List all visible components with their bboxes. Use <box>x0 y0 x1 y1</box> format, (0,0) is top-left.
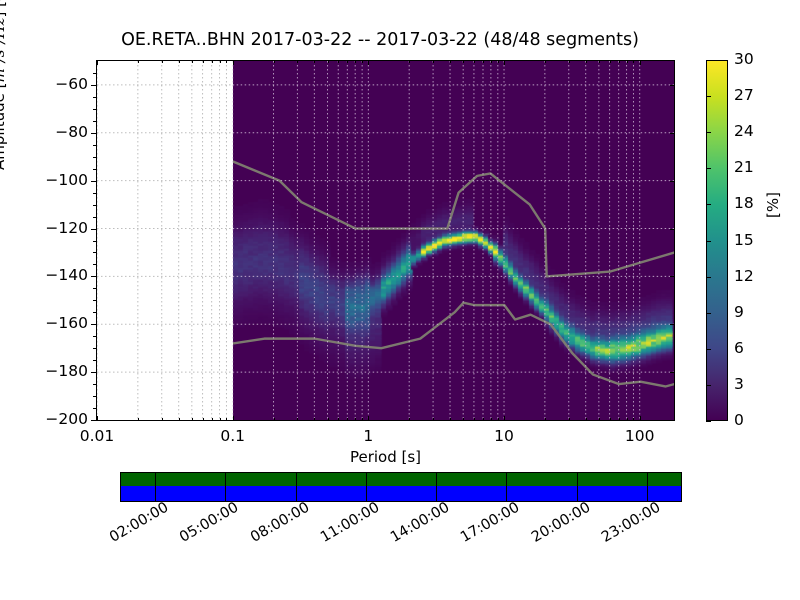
x-minor-tick <box>433 418 434 421</box>
x-minor-tick <box>619 418 620 421</box>
x-minor-tick-top <box>338 60 339 63</box>
x-minor-tick-top <box>633 60 634 63</box>
x-minor-tick <box>610 418 611 421</box>
y-minor-tick <box>93 396 96 397</box>
x-minor-tick <box>463 418 464 421</box>
y-axis-label-prefix: Amplitude [ <box>0 83 8 171</box>
y-minor-tick <box>93 193 96 194</box>
y-minor-tick <box>93 336 96 337</box>
timeline-tick <box>436 472 437 502</box>
x-minor-tick-top <box>362 60 363 63</box>
x-tick-mark-top <box>233 60 234 65</box>
x-minor-tick <box>274 418 275 421</box>
x-minor-tick-top <box>162 60 163 63</box>
x-minor-tick-top <box>433 60 434 63</box>
y-minor-tick <box>93 300 96 301</box>
y-tick-label: −200 <box>45 410 88 428</box>
x-minor-tick-top <box>212 60 213 63</box>
colorbar-tick <box>706 421 711 422</box>
x-tick-mark-top <box>640 60 641 65</box>
x-minor-tick-top <box>328 60 329 63</box>
x-minor-tick <box>226 418 227 421</box>
timeline-tick <box>296 472 297 502</box>
x-tick-mark-top <box>97 60 98 65</box>
timeline-tick-label: 17:00:00 <box>458 499 522 545</box>
x-minor-tick <box>450 418 451 421</box>
y-tick-mark <box>91 420 96 421</box>
colorbar-tick <box>706 96 711 97</box>
y-tick-label: −100 <box>45 171 88 189</box>
y-minor-tick <box>93 312 96 313</box>
x-minor-tick-top <box>498 60 499 63</box>
x-minor-tick-top <box>192 60 193 63</box>
timeline-tick <box>647 472 648 502</box>
colorbar-tick-label: 9 <box>734 303 744 321</box>
x-tick-label: 0.1 <box>193 427 273 445</box>
colorbar-tick-label: 24 <box>734 122 754 140</box>
colorbar-tick-label: 12 <box>734 267 754 285</box>
timeline-tick <box>366 472 367 502</box>
y-minor-tick <box>93 384 96 385</box>
y-tick-label: −120 <box>45 219 88 237</box>
x-minor-tick <box>627 418 628 421</box>
x-minor-tick-top <box>610 60 611 63</box>
y-minor-tick <box>93 73 96 74</box>
timeline-tick <box>577 472 578 502</box>
y-tick-label: −160 <box>45 314 88 332</box>
colorbar-tick <box>706 168 711 169</box>
x-minor-tick-top <box>463 60 464 63</box>
y-tick-mark-right <box>670 133 675 134</box>
timeline-tick-label: 23:00:00 <box>599 499 663 545</box>
timeline-tick-label: 08:00:00 <box>248 499 312 545</box>
y-minor-tick <box>93 288 96 289</box>
y-minor-tick <box>93 408 96 409</box>
y-minor-tick <box>93 252 96 253</box>
y-tick-mark-right <box>670 420 675 421</box>
y-tick-mark <box>91 372 96 373</box>
x-minor-tick <box>203 418 204 421</box>
y-tick-mark <box>91 276 96 277</box>
x-minor-tick-top <box>274 60 275 63</box>
x-minor-tick-top <box>599 60 600 63</box>
psd-segment-band <box>121 486 681 501</box>
timeline-tick-label: 02:00:00 <box>107 499 171 545</box>
timeline-tick-label: 11:00:00 <box>318 499 382 545</box>
y-minor-tick <box>93 97 96 98</box>
x-minor-tick-top <box>409 60 410 63</box>
x-minor-tick <box>220 418 221 421</box>
x-minor-tick-top <box>314 60 315 63</box>
y-minor-tick <box>93 217 96 218</box>
x-tick-mark <box>97 416 98 421</box>
x-minor-tick-top <box>179 60 180 63</box>
x-minor-tick <box>599 418 600 421</box>
y-axis-label: Amplitude [m²/s⁴/Hz] [dB] <box>0 0 8 170</box>
colorbar-tick-label: 18 <box>734 194 754 212</box>
x-minor-tick-top <box>474 60 475 63</box>
colorbar-tick <box>706 204 711 205</box>
colorbar-tick <box>706 277 711 278</box>
y-axis-label-math: m²/s⁴/Hz <box>0 17 8 82</box>
x-minor-tick-top <box>355 60 356 63</box>
x-minor-tick-top <box>569 60 570 63</box>
x-minor-tick-top <box>586 60 587 63</box>
x-tick-label: 10 <box>464 427 544 445</box>
y-minor-tick <box>93 121 96 122</box>
x-minor-tick <box>586 418 587 421</box>
y-axis-label-suffix: ] [dB] <box>0 0 8 17</box>
x-minor-tick <box>314 418 315 421</box>
x-minor-tick-top <box>226 60 227 63</box>
data-coverage-band <box>121 473 681 486</box>
x-minor-tick <box>179 418 180 421</box>
y-tick-mark <box>91 133 96 134</box>
y-minor-tick <box>93 205 96 206</box>
x-tick-label: 100 <box>600 427 680 445</box>
x-minor-tick-top <box>619 60 620 63</box>
y-minor-tick <box>93 241 96 242</box>
timeline-axes <box>120 472 682 502</box>
x-minor-tick-top <box>627 60 628 63</box>
x-minor-tick <box>545 418 546 421</box>
x-minor-tick-top <box>220 60 221 63</box>
y-tick-mark <box>91 324 96 325</box>
y-minor-tick <box>93 109 96 110</box>
colorbar-tick-label: 6 <box>734 339 744 357</box>
timeline-tick <box>506 472 507 502</box>
x-minor-tick <box>569 418 570 421</box>
colorbar-tick-label: 27 <box>734 86 754 104</box>
x-minor-tick <box>498 418 499 421</box>
x-tick-mark <box>233 416 234 421</box>
y-tick-label: −140 <box>45 266 88 284</box>
x-minor-tick <box>297 418 298 421</box>
colorbar-tick <box>706 349 711 350</box>
x-minor-tick <box>212 418 213 421</box>
y-tick-label: −60 <box>55 75 88 93</box>
x-tick-mark <box>368 416 369 421</box>
ppsd-histogram-panel <box>233 61 674 420</box>
x-minor-tick <box>338 418 339 421</box>
x-minor-tick-top <box>347 60 348 63</box>
y-tick-mark-right <box>670 372 675 373</box>
x-minor-tick <box>138 418 139 421</box>
x-tick-label: 1 <box>328 427 408 445</box>
timeline-tick-label: 05:00:00 <box>177 499 241 545</box>
x-minor-tick <box>192 418 193 421</box>
x-axis-label: Period [s] <box>96 448 675 466</box>
colorbar-tick <box>706 132 711 133</box>
colorbar-tick-label: 3 <box>734 375 744 393</box>
plot-title: OE.RETA..BHN 2017-03-22 -- 2017-03-22 (4… <box>0 30 760 50</box>
x-minor-tick-top <box>297 60 298 63</box>
x-minor-tick-top <box>450 60 451 63</box>
y-tick-mark <box>91 229 96 230</box>
x-minor-tick <box>162 418 163 421</box>
colorbar-tick <box>706 241 711 242</box>
colorbar-label: [%] <box>764 192 782 218</box>
y-tick-mark-right <box>670 85 675 86</box>
colorbar-tick <box>706 60 711 61</box>
y-minor-tick <box>93 145 96 146</box>
y-tick-label: −80 <box>55 123 88 141</box>
colorbar-tick <box>706 313 711 314</box>
y-tick-mark-right <box>670 324 675 325</box>
x-minor-tick-top <box>203 60 204 63</box>
y-tick-mark <box>91 85 96 86</box>
x-minor-tick <box>409 418 410 421</box>
x-minor-tick <box>362 418 363 421</box>
y-minor-tick <box>93 348 96 349</box>
colorbar-tick-label: 0 <box>734 411 744 429</box>
y-minor-tick <box>93 157 96 158</box>
x-minor-tick-top <box>545 60 546 63</box>
y-tick-mark-right <box>670 276 675 277</box>
x-minor-tick <box>483 418 484 421</box>
x-minor-tick <box>347 418 348 421</box>
y-tick-label: −180 <box>45 362 88 380</box>
colorbar-tick-label: 15 <box>734 231 754 249</box>
x-tick-label: 0.01 <box>57 427 137 445</box>
no-data-region <box>97 61 233 420</box>
y-minor-tick <box>93 264 96 265</box>
x-minor-tick-top <box>483 60 484 63</box>
timeline-tick <box>155 472 156 502</box>
noise-model-curves <box>233 61 674 420</box>
x-minor-tick <box>328 418 329 421</box>
timeline-tick <box>225 472 226 502</box>
x-minor-tick-top <box>491 60 492 63</box>
x-tick-mark-top <box>504 60 505 65</box>
ppsd-axes <box>96 60 675 421</box>
colorbar-tick-label: 21 <box>734 158 754 176</box>
timeline-tick-label: 20:00:00 <box>529 499 593 545</box>
ppsd-figure: OE.RETA..BHN 2017-03-22 -- 2017-03-22 (4… <box>0 0 800 600</box>
y-tick-mark <box>91 181 96 182</box>
colorbar-tick <box>706 385 711 386</box>
y-minor-tick <box>93 169 96 170</box>
y-tick-mark-right <box>670 181 675 182</box>
y-minor-tick <box>93 360 96 361</box>
x-minor-tick <box>633 418 634 421</box>
x-tick-mark <box>640 416 641 421</box>
x-tick-mark <box>504 416 505 421</box>
y-tick-mark-right <box>670 229 675 230</box>
x-minor-tick-top <box>138 60 139 63</box>
x-minor-tick <box>474 418 475 421</box>
colorbar-tick-label: 30 <box>734 50 754 68</box>
x-minor-tick <box>355 418 356 421</box>
x-tick-mark-top <box>368 60 369 65</box>
timeline-tick-label: 14:00:00 <box>388 499 452 545</box>
x-minor-tick <box>491 418 492 421</box>
